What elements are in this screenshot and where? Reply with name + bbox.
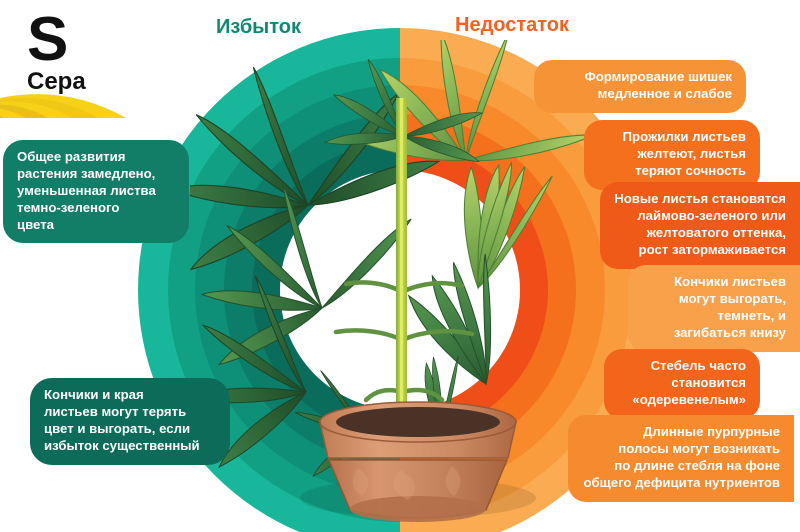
heading-excess: Избыток <box>216 16 301 39</box>
heading-deficiency: Недостаток <box>455 14 569 37</box>
callout-text: Прожилки листьев желтеют, листья теряют … <box>598 129 746 180</box>
callout-deficiency-purple-stripes: Длинные пурпурные полосы могут возникать… <box>568 415 794 502</box>
callout-deficiency-new-leaves-lime: Новые листья становятся лаймово-зеленого… <box>600 182 800 269</box>
callout-text: Общее развития растения замедлено, умень… <box>17 149 175 233</box>
callout-text: Формирование шишек медленное и слабое <box>548 69 732 103</box>
callout-text: Длинные пурпурные полосы могут возникать… <box>582 424 780 492</box>
cannabis-plant-illustration <box>190 40 610 532</box>
nutrient-symbol: S <box>27 14 86 66</box>
callout-text: Новые листья становятся лаймово-зеленого… <box>614 191 786 259</box>
callout-deficiency-leaf-tips-curl: Кончики листьев могут выгорать, темнеть,… <box>628 265 800 352</box>
infographic-canvas: S Сера Избыток Недостаток <box>0 0 800 532</box>
callout-deficiency-veins-yellowing: Прожилки листьев желтеют, листья теряют … <box>584 120 760 190</box>
callout-text: Кончики и края листьев могут терять цвет… <box>44 387 216 455</box>
callout-text: Кончики листьев могут выгорать, темнеть,… <box>642 274 786 342</box>
nutrient-symbol-block: S Сера <box>27 14 86 96</box>
callout-deficiency-bud-formation: Формирование шишек медленное и слабое <box>534 60 746 113</box>
callout-excess-growth-slowed: Общее развития растения замедлено, умень… <box>3 140 189 243</box>
nutrient-name: Сера <box>27 68 86 96</box>
callout-excess-tips-edges-burn: Кончики и края листьев могут терять цвет… <box>30 378 230 465</box>
callout-text: Стебель часто становится «одеревенелым» <box>618 358 746 409</box>
callout-deficiency-stem-woody: Стебель часто становится «одеревенелым» <box>604 349 760 419</box>
